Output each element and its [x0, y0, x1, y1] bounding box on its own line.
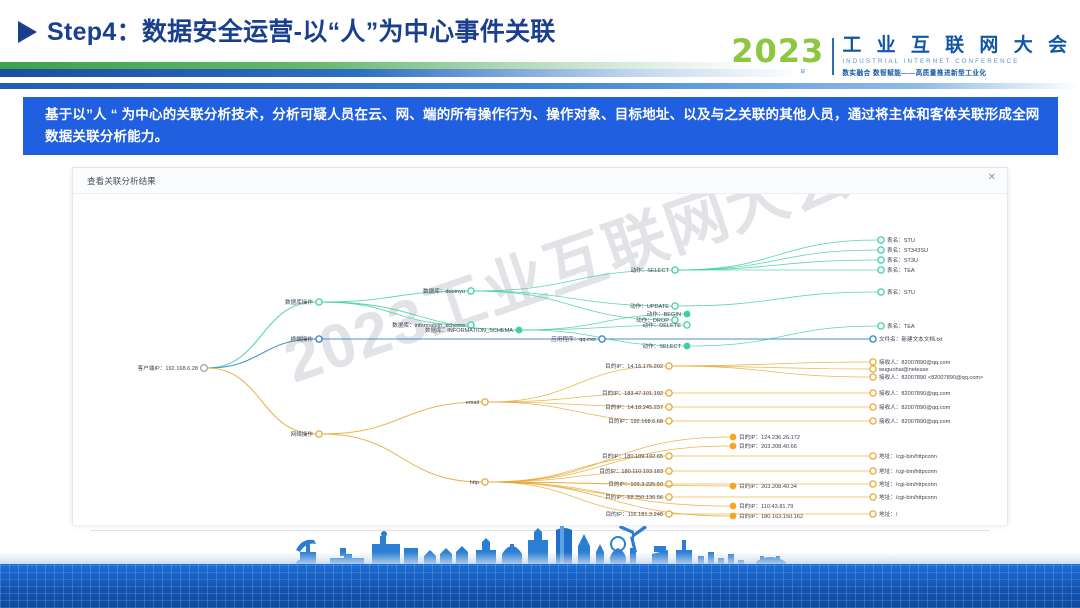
- graph-edge: [207, 339, 315, 368]
- graph-edge: [678, 240, 878, 270]
- branch-node-1[interactable]: [316, 336, 322, 342]
- email-dest-ip-label-3: 目的IP：192.168.6.68: [608, 417, 663, 425]
- email-dest-ip-node-3[interactable]: [666, 418, 672, 424]
- table-label-2: 表名：ST3U: [887, 256, 918, 264]
- email-dest-ip-label-1: 目的IP：183.47.101.192: [602, 389, 663, 397]
- graph-edge: [207, 368, 315, 434]
- slide-header: Step4：数据安全运营-以“人”为中心事件关联 2023 中国·苏州 8月14…: [0, 0, 1080, 62]
- bar-blue-secondary: [0, 83, 1080, 89]
- url-node-3[interactable]: [870, 494, 876, 500]
- table-node-0[interactable]: [878, 237, 884, 243]
- email-dest-ip-node-1[interactable]: [666, 390, 672, 396]
- description-banner: 基于以”人 “ 为中心的关联分析技术，分析可疑人员在云、网、端的所有操作行为、操…: [23, 97, 1058, 155]
- table-node-1[interactable]: [878, 247, 884, 253]
- http-dest-ip-label-3: 目的IP：180.110.193.183: [599, 467, 663, 475]
- recipient-node-4[interactable]: [870, 404, 876, 410]
- http-dest-ip-label-9: 目的IP：116.181.3.248: [606, 510, 663, 518]
- action-label-1: 动作：UPDATE: [630, 302, 669, 310]
- action-label-5: 动作：SELECT: [642, 342, 681, 350]
- graph-edge: [322, 434, 482, 482]
- graph-edge: [678, 260, 878, 270]
- http-dest-ip-label-0: 目的IP：124.236.26.172: [739, 433, 800, 441]
- analysis-result-panel: 查看关联分析结果 ✕ 2023工业互联网大会 客户端IP：192.168.6.2…: [72, 167, 1008, 525]
- slide-footer: [0, 530, 1080, 608]
- http-dest-ip-node-4[interactable]: [666, 481, 672, 487]
- recipient-label-1: wuguohai@netease: [878, 367, 929, 373]
- action-node-0[interactable]: [672, 267, 678, 273]
- graph-edge: [672, 362, 870, 366]
- url-node-4[interactable]: [870, 511, 876, 517]
- action-node-4[interactable]: [684, 322, 690, 328]
- email-dest-ip-label-2: 目的IP：14.18.245.237: [605, 403, 663, 411]
- http-dest-ip-label-6: 目的IP：58.250.136.56: [605, 493, 663, 501]
- url-label-4: 地址：/: [879, 510, 898, 518]
- app-label: 应用程序：qq.exe: [551, 335, 596, 343]
- recipient-label-2: 接收人：82007890 <82007890@qq.com>: [879, 373, 983, 381]
- action-label-4: 动作：DELETE: [642, 321, 681, 329]
- http-dest-ip-label-8: 目的IP：180.163.150.162: [739, 512, 803, 520]
- url-label-0: 地址：/cgi-bin/httpconn: [879, 452, 937, 460]
- http-dest-ip-node-3[interactable]: [666, 468, 672, 474]
- bar-blue-primary: [0, 69, 800, 77]
- url-node-2[interactable]: [870, 481, 876, 487]
- http-dest-ip-node-9[interactable]: [666, 511, 672, 517]
- http-dest-ip-node-1[interactable]: [730, 443, 737, 450]
- branch-node-0[interactable]: [316, 299, 322, 305]
- branch-label-2: 网络操作: [291, 430, 314, 438]
- app-node[interactable]: [599, 336, 605, 342]
- header-decoration-bars: [0, 62, 1080, 92]
- recipient-label-3: 接收人：82007890@qq.com: [879, 389, 951, 397]
- root-node[interactable]: [201, 365, 208, 372]
- action-label-3: 动作：BEGIN: [647, 310, 681, 318]
- table-label-4: 表名：STU: [887, 288, 915, 296]
- database-label-2: 数据库：INFORMATION_SCHEMA: [425, 326, 513, 334]
- panel-header: 查看关联分析结果 ✕: [73, 168, 1007, 194]
- graph-edge: [690, 326, 878, 346]
- branch-label-0: 数据库操作: [285, 298, 313, 306]
- url-node-0[interactable]: [870, 453, 876, 459]
- email-dest-ip-node-0[interactable]: [666, 363, 672, 369]
- http-dest-ip-node-7[interactable]: [730, 503, 737, 510]
- recipient-label-4: 接收人：82007890@qq.com: [879, 403, 951, 411]
- table-node-2[interactable]: [878, 257, 884, 263]
- recipient-node-1[interactable]: [870, 366, 876, 372]
- action-node-1[interactable]: [672, 303, 678, 309]
- recipient-label-0: 接收人：82007890@qq.com: [879, 358, 951, 366]
- http-branch-node[interactable]: [482, 479, 488, 485]
- database-node-0[interactable]: [468, 288, 474, 294]
- url-label-2: 地址：/cgi-bin/httpconn: [879, 480, 937, 488]
- email-dest-ip-label-0: 目的IP：14.16.175.202: [605, 362, 663, 370]
- table-label-5: 表名：TEA: [887, 322, 915, 330]
- branch-node-2[interactable]: [316, 431, 322, 437]
- panel-body: 2023工业互联网大会 客户端IP：192.168.6.28数据库操作终端操作网…: [73, 194, 1007, 525]
- recipient-node-0[interactable]: [870, 359, 876, 365]
- http-dest-ip-node-0[interactable]: [730, 434, 737, 441]
- email-branch-label: email: [466, 400, 479, 406]
- title-row: Step4：数据安全运营-以“人”为中心事件关联: [18, 12, 556, 48]
- http-dest-ip-label-1: 目的IP：203.208.40.66: [739, 442, 797, 450]
- recipient-node-5[interactable]: [870, 418, 876, 424]
- graph-edge: [322, 402, 482, 434]
- table-label-0: 表名：STU: [887, 236, 915, 244]
- page-title: Step4：数据安全运营-以“人”为中心事件关联: [47, 12, 556, 48]
- table-node-4[interactable]: [878, 289, 884, 295]
- url-label-1: 地址：/cgi-bin/httpconn: [879, 467, 937, 475]
- http-branch-label: http: [470, 480, 479, 486]
- graph-edge: [678, 250, 878, 270]
- database-node-2[interactable]: [516, 327, 523, 334]
- file-node[interactable]: [870, 336, 876, 342]
- close-icon[interactable]: ✕: [988, 173, 996, 183]
- http-dest-ip-node-2[interactable]: [666, 453, 672, 459]
- recipient-node-3[interactable]: [870, 390, 876, 396]
- action-node-5[interactable]: [684, 343, 691, 350]
- graph-edge: [207, 302, 315, 368]
- bar-green: [0, 62, 760, 69]
- url-node-1[interactable]: [870, 468, 876, 474]
- recipient-label-5: 接收人：82007890@qq.com: [879, 417, 951, 425]
- table-label-3: 表名：TEA: [887, 266, 915, 274]
- table-node-3[interactable]: [878, 267, 884, 273]
- http-dest-ip-label-2: 目的IP：180.109.192.65: [602, 452, 663, 460]
- branch-label-1: 终端操作: [291, 335, 314, 343]
- relation-graph[interactable]: 客户端IP：192.168.6.28数据库操作终端操作网络操作数据库：duoin…: [73, 194, 1007, 525]
- database-label-0: 数据库：duoinyu: [423, 287, 465, 295]
- table-node-5[interactable]: [878, 323, 884, 329]
- email-dest-ip-node-2[interactable]: [666, 404, 672, 410]
- email-branch-node[interactable]: [482, 399, 488, 405]
- file-label: 文件名：新建文本文档.txt: [879, 335, 943, 343]
- url-label-3: 地址：/cgi-bin/httpconn: [879, 493, 937, 501]
- graph-edge: [488, 446, 730, 482]
- http-dest-ip-label-7: 目的IP：110.43.81.79: [739, 502, 793, 510]
- panel-title: 查看关联分析结果: [87, 175, 156, 187]
- play-triangle-icon: [18, 21, 37, 43]
- graph-edge: [322, 302, 468, 325]
- recipient-node-2[interactable]: [870, 374, 876, 380]
- action-node-3[interactable]: [684, 311, 691, 318]
- root-node-label: 客户端IP：192.168.6.28: [138, 364, 198, 372]
- footer-fade: [0, 552, 1080, 564]
- http-dest-ip-label-5: 目的IP：203.208.40.34: [739, 482, 797, 490]
- table-label-1: 表名：ST343SU: [887, 246, 928, 254]
- http-dest-ip-node-6[interactable]: [666, 494, 672, 500]
- footer-ground-grid: [0, 564, 1080, 608]
- action-label-0: 动作：SELECT: [630, 266, 669, 274]
- logo-cn-name: 工 业 互 联 网 大 会: [842, 36, 1072, 56]
- graph-edge: [678, 292, 878, 306]
